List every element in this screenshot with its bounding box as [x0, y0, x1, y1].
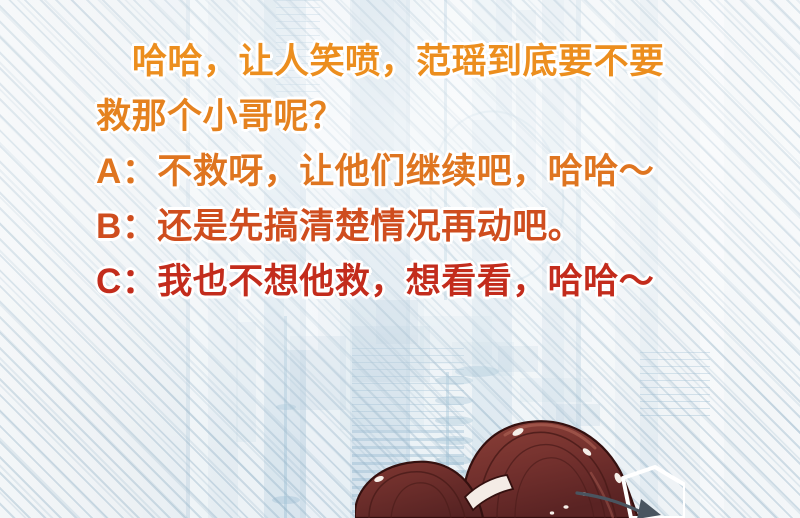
hair-head — [355, 462, 483, 518]
antenna-mast — [446, 372, 449, 518]
option-c[interactable]: C：我也不想他救，想看看，哈哈～ — [96, 254, 728, 309]
building-slab — [290, 336, 346, 410]
building-slab — [498, 346, 538, 372]
option-b[interactable]: B：还是先搞清楚情况再动吧。 — [96, 199, 728, 254]
antenna-mast — [284, 316, 287, 518]
antenna-disc — [435, 416, 473, 425]
question-line-2: 救那个小哥呢？ — [96, 89, 728, 144]
antenna-disc — [455, 366, 499, 377]
hair-glints — [373, 427, 623, 515]
antenna-disc — [435, 456, 473, 465]
antenna-disc — [276, 404, 296, 410]
building-slab — [556, 404, 600, 426]
hair-strand — [369, 472, 465, 518]
building-slab — [352, 326, 430, 382]
hair-highlight — [505, 425, 595, 448]
building-slab — [520, 378, 592, 402]
hair-strand — [515, 458, 594, 518]
antenna-disc — [435, 376, 473, 385]
hair-ponytail — [463, 421, 638, 518]
building-slab — [236, 322, 256, 442]
hair-tie — [465, 475, 513, 510]
antenna-disc — [460, 468, 504, 479]
comic-panel: 哈哈，让人笑喷，范瑶到底要不要 救那个小哥呢？ A：不救呀，让他们继续吧，哈哈～… — [0, 0, 800, 518]
antenna-disc — [435, 396, 473, 405]
character-hair — [355, 405, 685, 518]
hair-strand — [391, 483, 451, 518]
hair-highlight — [591, 473, 613, 518]
question-line-1: 哈哈，让人笑喷，范瑶到底要不要 — [96, 34, 728, 89]
floor-lines — [352, 348, 464, 432]
hair-strand — [479, 432, 616, 518]
building-slab — [340, 300, 424, 430]
speech-bubble-arrow — [577, 467, 685, 518]
option-a[interactable]: A：不救呀，让他们继续吧，哈哈～ — [96, 144, 728, 199]
floor-lines — [352, 430, 464, 518]
antenna-disc — [435, 436, 473, 445]
building-slab — [420, 316, 492, 364]
caption-block: 哈哈，让人笑喷，范瑶到底要不要 救那个小哥呢？ A：不救呀，让他们继续吧，哈哈～… — [0, 0, 800, 309]
floor-lines — [640, 352, 710, 422]
antenna-disc — [272, 496, 300, 504]
building-slab — [452, 342, 514, 376]
hair-strand — [497, 445, 605, 518]
